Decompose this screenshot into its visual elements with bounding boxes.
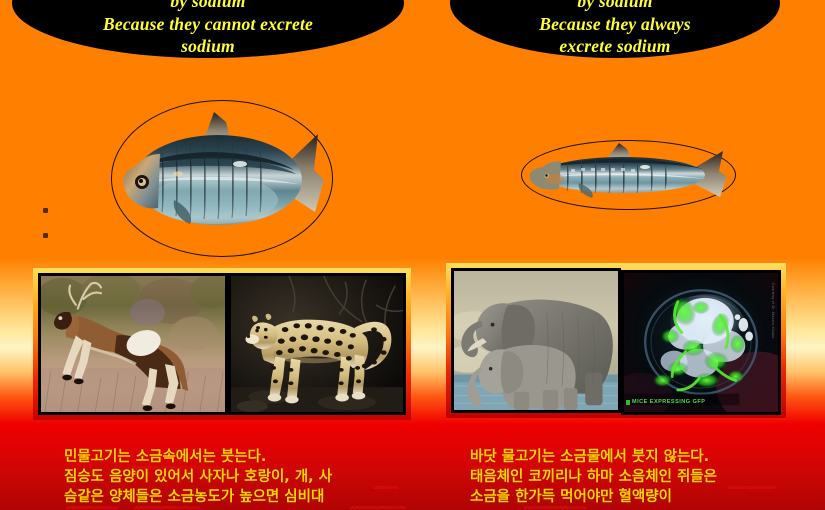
gfp-color-swatch [626, 400, 630, 405]
oval-right-text: by sodium Because they always excrete so… [450, 0, 780, 58]
oval-callout-left: by sodium Because they cannot excrete so… [12, 0, 404, 58]
korean-caption-left: 민물고기는 소금속에서는 붓는다. 짐승도 음양이 있어서 사자나 호랑이, 개… [64, 447, 424, 507]
gfp-credit-text: Courtesy of Dr. Masaru Okabe [771, 283, 775, 339]
spellcheck-squiggle [132, 466, 222, 469]
slender-fish-image [527, 143, 731, 205]
spellcheck-squiggle [134, 506, 200, 509]
spellcheck-squiggle [728, 486, 776, 489]
bullet-dot-icon-2 [43, 233, 48, 238]
korean-caption-right: 바닷 물고기는 소금물에서 붓지 않는다. 태음체인 코끼리나 하마 소음체인 … [470, 447, 820, 507]
bullet-dot-icon-1 [43, 208, 48, 213]
swollen-fish-image [118, 108, 328, 248]
spellcheck-squiggle [66, 506, 118, 509]
gfp-mice-photo: MICE EXPRESSING GFP Courtesy of Dr. Masa… [621, 270, 781, 415]
spellcheck-squiggle [350, 506, 406, 509]
deer-photo [38, 273, 228, 415]
spellcheck-squiggle [524, 506, 586, 509]
photo-collage-right: MICE EXPRESSING GFP Courtesy of Dr. Masa… [446, 263, 786, 418]
spellcheck-squiggle [472, 466, 512, 469]
photo-collage-left [33, 268, 411, 420]
spellcheck-squiggle [374, 486, 398, 489]
oval-callout-right: by sodium Because they always excrete so… [450, 0, 780, 58]
leopard-photo [228, 273, 406, 415]
elephant-photo [451, 268, 621, 413]
oval-left-text: by sodium Because they cannot excrete so… [12, 0, 404, 58]
gfp-caption-label: MICE EXPRESSING GFP [632, 399, 705, 405]
slide-canvas: by sodium Because they cannot excrete so… [0, 0, 825, 510]
